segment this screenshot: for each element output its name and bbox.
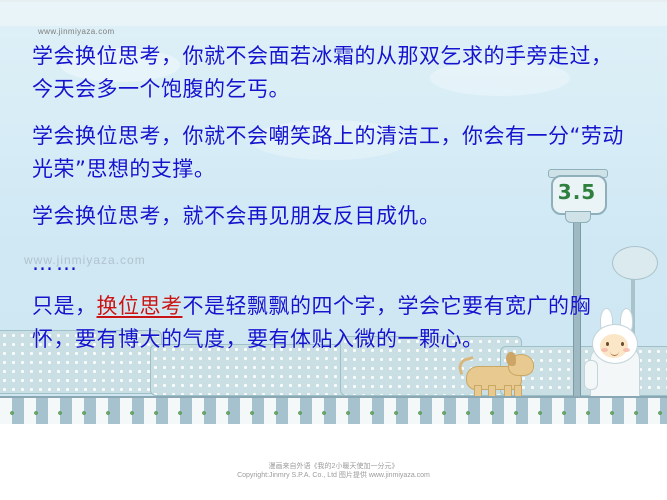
slide-top-edge: [0, 0, 667, 2]
paragraph-2: 学会换位思考，你就不会嘲笑路上的清洁工，你会有一分“劳动光荣”思想的支撑。: [32, 120, 632, 186]
slide-canvas: 3.5 www.jinmiyaza.com www.jinmiyaza.com …: [0, 0, 667, 500]
watermark-top: www.jinmiyaza.com: [38, 27, 115, 36]
paragraph-3: 学会换位思考，就不会再见朋友反目成仇。: [32, 200, 632, 233]
credit-block: 漫画来自外语《我的2小暖天使加一分元》 Copyright:Jinmry S.P…: [0, 462, 667, 480]
credit-line-1: 漫画来自外语《我的2小暖天使加一分元》: [0, 462, 667, 471]
slide-text-body: 学会换位思考，你就不会面若冰霜的从那双乞求的手旁走过，今天会多一个饱腹的乞丐。 …: [32, 40, 632, 370]
final-lead-text: 只是，: [32, 294, 97, 318]
paragraph-ellipsis: ……: [32, 247, 632, 280]
paragraph-1: 学会换位思考，你就不会面若冰霜的从那双乞求的手旁走过，今天会多一个饱腹的乞丐。: [32, 40, 632, 106]
sky-top-band: [0, 0, 667, 26]
paragraph-final: 只是，换位思考不是轻飘飘的四个字，学会它要有宽广的胸怀，要有博大的气度，要有体贴…: [32, 290, 632, 356]
credit-line-2: Copyright:Jinmry S.P.A. Co., Ltd 图片提供 ww…: [0, 471, 667, 480]
ground-dot-pattern: [0, 408, 667, 416]
emphasis-keyword: 换位思考: [97, 294, 183, 318]
